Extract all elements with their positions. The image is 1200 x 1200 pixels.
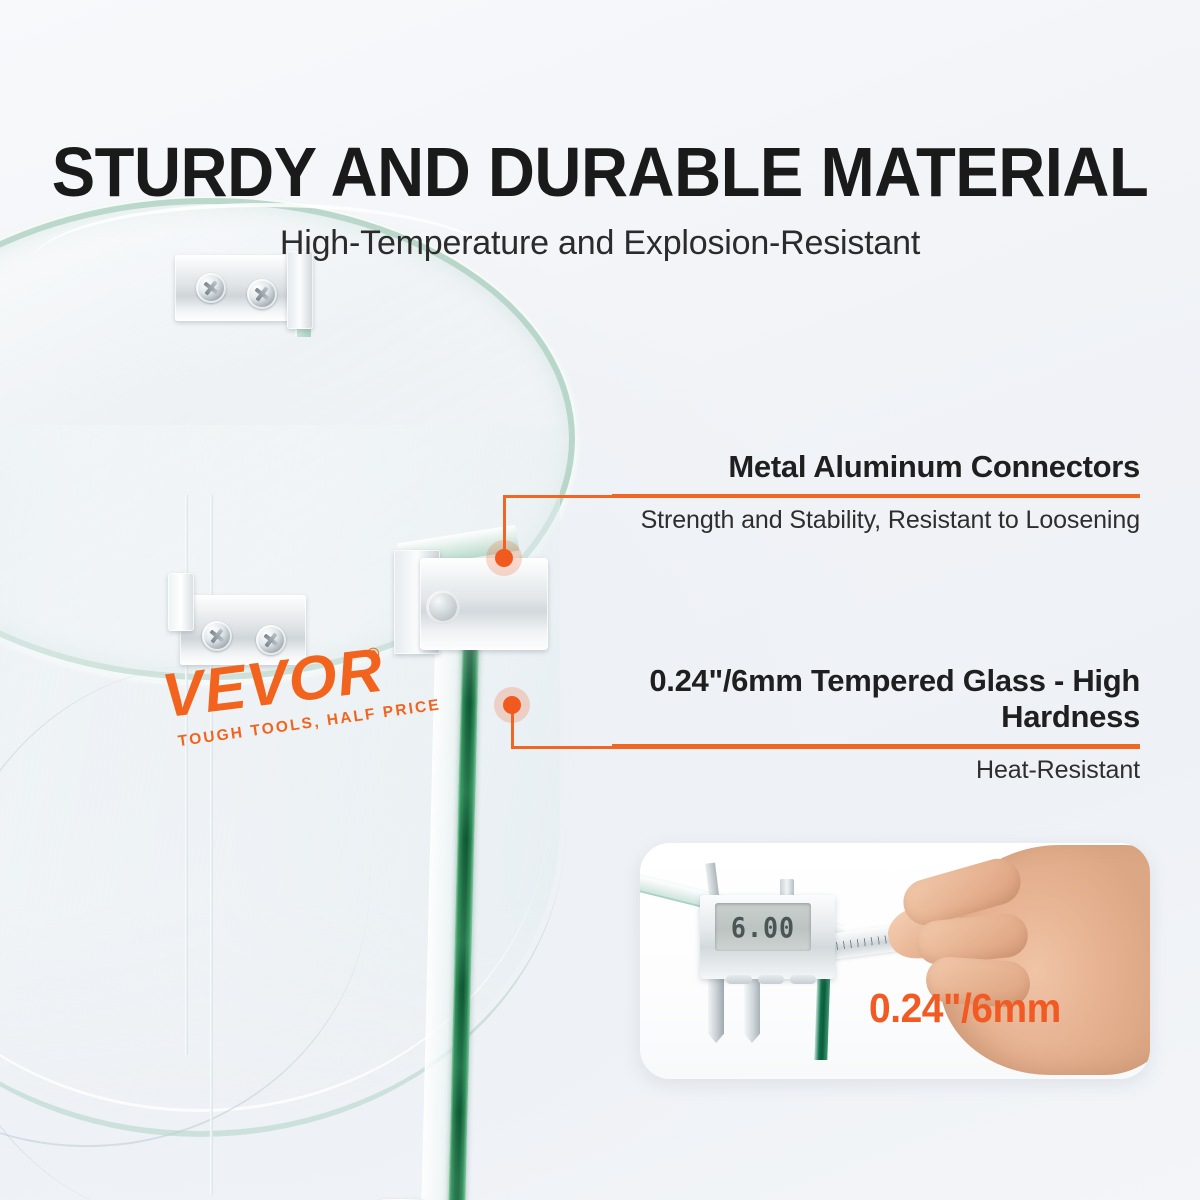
screw-icon: [247, 279, 277, 309]
inset-thickness-label: 0.24"/6mm: [869, 985, 1061, 1032]
callout-divider: [612, 494, 1140, 497]
caliper-button: [726, 975, 752, 984]
feature-callout-glass: 0.24"/6mm Tempered Glass - High Hardness…: [612, 663, 1140, 787]
caliper-button: [790, 975, 816, 984]
connector-plate: [180, 595, 306, 665]
page-subtitle: High-Temperature and Explosion-Resistant: [0, 224, 1200, 263]
callout-description: Strength and Stability, Resistant to Loo…: [612, 505, 1140, 537]
aluminum-connector-middle-left: [180, 595, 330, 675]
product-image-glass-wind-guard: [0, 195, 640, 1200]
callout-title: 0.24"/6mm Tempered Glass - High Hardness: [612, 663, 1140, 735]
hotspot-dot-glass[interactable]: [503, 696, 521, 714]
connector-boss: [426, 590, 460, 624]
screw-icon: [256, 625, 286, 655]
screw-icon: [196, 273, 226, 303]
callout-divider: [612, 744, 1140, 747]
callout-description: Heat-Resistant: [612, 755, 1140, 787]
feature-callout-connectors: Metal Aluminum Connectors Strength and S…: [612, 449, 1140, 537]
inset-caliper-photo: 6.00 0.24"/6mm: [640, 843, 1150, 1079]
caliper-lcd-display: 6.00: [715, 903, 811, 951]
callout-title: Metal Aluminum Connectors: [612, 449, 1140, 485]
caliper-reading-value: 6.00: [731, 911, 795, 943]
aluminum-connector-bottom: [372, 1195, 552, 1200]
product-feature-banner: VEVOR ® TOUGH TOOLS, HALF PRICE STURDY A…: [0, 0, 1200, 1200]
page-title: STURDY AND DURABLE MATERIAL: [42, 132, 1158, 212]
aluminum-connector-top: [175, 255, 315, 327]
hotspot-dot-connectors[interactable]: [495, 549, 513, 567]
screw-icon: [202, 621, 232, 651]
caliper-button: [758, 975, 784, 984]
leader-line-vertical: [503, 495, 506, 557]
connector-tab: [168, 573, 194, 631]
aluminum-connector-edge: [380, 540, 550, 670]
